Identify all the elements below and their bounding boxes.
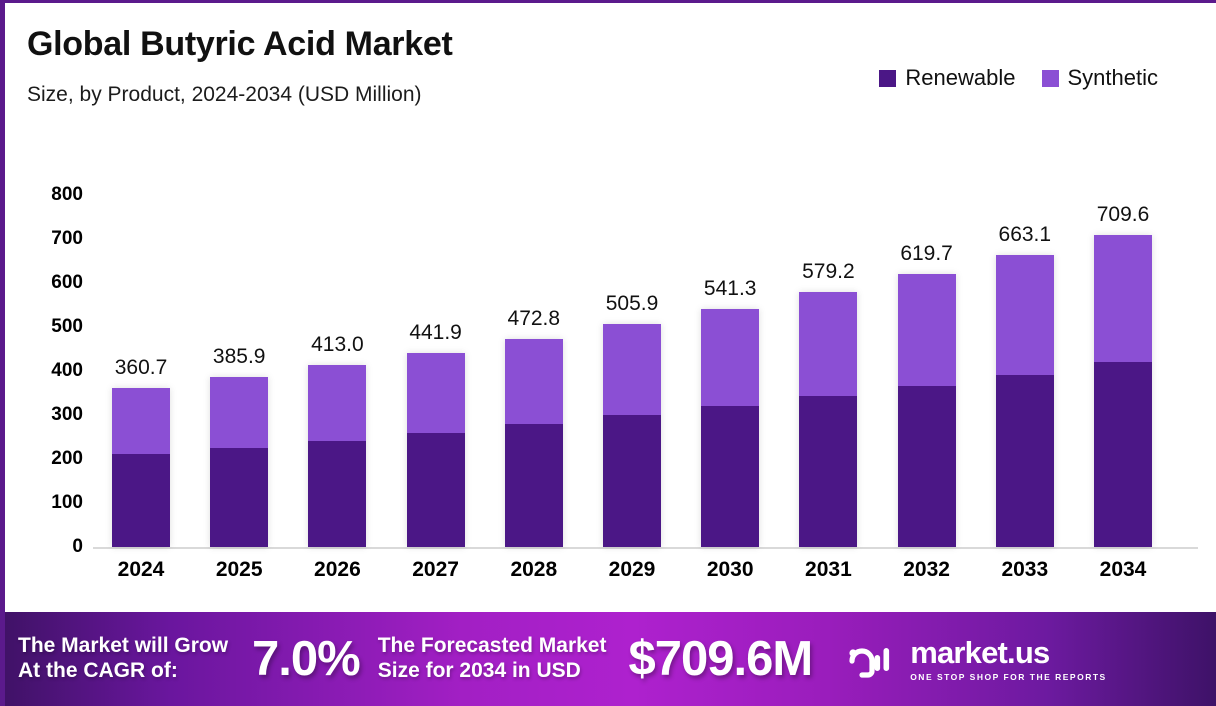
legend-label: Synthetic bbox=[1068, 65, 1159, 91]
bar-segment-synthetic[interactable] bbox=[112, 388, 170, 454]
bar-segment-renewable[interactable] bbox=[112, 454, 170, 547]
bar-segment-renewable[interactable] bbox=[603, 415, 661, 547]
bar-group-2033[interactable]: 663.1 bbox=[996, 153, 1054, 547]
bar-segment-synthetic[interactable] bbox=[898, 274, 956, 385]
square-swatch-icon bbox=[879, 70, 896, 87]
x-axis-line bbox=[93, 547, 1198, 549]
x-axis-label-2030: 2030 bbox=[701, 558, 759, 582]
stacked-bar[interactable] bbox=[308, 365, 366, 547]
x-axis-label-2025: 2025 bbox=[210, 558, 268, 582]
bar-group-2032[interactable]: 619.7 bbox=[898, 153, 956, 547]
bar-segment-renewable[interactable] bbox=[701, 406, 759, 547]
x-axis-label-2032: 2032 bbox=[898, 558, 956, 582]
x-axis-label-2033: 2033 bbox=[996, 558, 1054, 582]
bar-group-2031[interactable]: 579.2 bbox=[799, 153, 857, 547]
bar-segment-renewable[interactable] bbox=[407, 433, 465, 547]
bar-segment-synthetic[interactable] bbox=[603, 324, 661, 415]
bar-group-2034[interactable]: 709.6 bbox=[1094, 153, 1152, 547]
y-axis-tick: 800 bbox=[51, 184, 83, 206]
bar-group-2027[interactable]: 441.9 bbox=[407, 153, 465, 547]
legend-item-renewable[interactable]: Renewable bbox=[879, 65, 1015, 91]
stacked-bar[interactable] bbox=[210, 377, 268, 547]
bar-total-label: 360.7 bbox=[115, 356, 168, 380]
bar-segment-synthetic[interactable] bbox=[799, 292, 857, 396]
square-swatch-icon bbox=[1042, 70, 1059, 87]
cagr-value: 7.0% bbox=[252, 631, 360, 687]
x-axis-label-2028: 2028 bbox=[505, 558, 563, 582]
bar-segment-renewable[interactable] bbox=[308, 441, 366, 547]
bar-segment-renewable[interactable] bbox=[996, 375, 1054, 547]
y-axis-tick: 0 bbox=[72, 536, 83, 558]
bar-total-label: 541.3 bbox=[704, 277, 757, 301]
stacked-bar[interactable] bbox=[1094, 235, 1152, 547]
bar-segment-synthetic[interactable] bbox=[701, 309, 759, 406]
cagr-label: The Market will Grow At the CAGR of: bbox=[18, 634, 228, 684]
bar-segment-renewable[interactable] bbox=[898, 386, 956, 547]
y-axis-tick: 200 bbox=[51, 448, 83, 470]
bar-series-container: 360.7385.9413.0441.9472.8505.9541.3579.2… bbox=[100, 153, 1195, 547]
y-axis-tick: 100 bbox=[51, 492, 83, 514]
bar-total-label: 472.8 bbox=[508, 307, 561, 331]
x-axis-label-2031: 2031 bbox=[799, 558, 857, 582]
cagr-label-line1: The Market will Grow bbox=[18, 634, 228, 659]
stacked-bar[interactable] bbox=[603, 324, 661, 547]
x-axis-label-2027: 2027 bbox=[407, 558, 465, 582]
x-axis-label-2029: 2029 bbox=[603, 558, 661, 582]
bar-segment-renewable[interactable] bbox=[1094, 362, 1152, 547]
stacked-bar[interactable] bbox=[996, 255, 1054, 547]
bar-total-label: 413.0 bbox=[311, 333, 364, 357]
x-axis-label-2024: 2024 bbox=[112, 558, 170, 582]
bar-segment-synthetic[interactable] bbox=[505, 339, 563, 424]
forecast-label: The Forecasted Market Size for 2034 in U… bbox=[378, 634, 607, 684]
bar-total-label: 619.7 bbox=[900, 242, 953, 266]
bar-total-label: 663.1 bbox=[999, 223, 1052, 247]
y-axis-tick: 400 bbox=[51, 360, 83, 382]
bar-segment-synthetic[interactable] bbox=[407, 353, 465, 433]
chart-plot-area: 0100200300400500600700800 360.7385.9413.… bbox=[5, 153, 1216, 608]
x-axis-label-2026: 2026 bbox=[308, 558, 366, 582]
bar-total-label: 709.6 bbox=[1097, 203, 1150, 227]
bar-total-label: 385.9 bbox=[213, 345, 266, 369]
bar-segment-synthetic[interactable] bbox=[210, 377, 268, 447]
page-subtitle: Size, by Product, 2024-2034 (USD Million… bbox=[27, 83, 422, 107]
stacked-bar[interactable] bbox=[701, 309, 759, 547]
stacked-bar[interactable] bbox=[505, 339, 563, 547]
x-axis-labels: 2024202520262027202820292030203120322033… bbox=[100, 558, 1195, 598]
brand-text: market.us ONE STOP SHOP FOR THE REPORTS bbox=[910, 637, 1107, 682]
bar-group-2030[interactable]: 541.3 bbox=[701, 153, 759, 547]
bar-segment-synthetic[interactable] bbox=[308, 365, 366, 440]
legend-item-synthetic[interactable]: Synthetic bbox=[1042, 65, 1159, 91]
y-axis-tick: 500 bbox=[51, 316, 83, 338]
cagr-label-line2: At the CAGR of: bbox=[18, 659, 228, 684]
y-axis-tick: 700 bbox=[51, 228, 83, 250]
stacked-bar[interactable] bbox=[407, 353, 465, 547]
brand-logo[interactable]: market.us ONE STOP SHOP FOR THE REPORTS bbox=[846, 637, 1107, 682]
forecast-value: $709.6M bbox=[628, 631, 812, 687]
x-axis-label-2034: 2034 bbox=[1094, 558, 1152, 582]
forecast-label-line2: Size for 2034 in USD bbox=[378, 659, 607, 684]
y-axis-tick: 600 bbox=[51, 272, 83, 294]
bar-total-label: 505.9 bbox=[606, 292, 659, 316]
y-axis: 0100200300400500600700800 bbox=[5, 153, 93, 553]
bar-group-2025[interactable]: 385.9 bbox=[210, 153, 268, 547]
stacked-bar[interactable] bbox=[112, 388, 170, 547]
bar-group-2024[interactable]: 360.7 bbox=[112, 153, 170, 547]
bar-total-label: 441.9 bbox=[409, 321, 462, 345]
legend-label: Renewable bbox=[905, 65, 1015, 91]
page-title: Global Butyric Acid Market bbox=[27, 25, 453, 64]
bar-total-label: 579.2 bbox=[802, 260, 855, 284]
brand-tagline: ONE STOP SHOP FOR THE REPORTS bbox=[910, 672, 1107, 682]
bar-group-2028[interactable]: 472.8 bbox=[505, 153, 563, 547]
infographic-container: Global Butyric Acid Market Size, by Prod… bbox=[0, 0, 1216, 706]
y-axis-tick: 300 bbox=[51, 404, 83, 426]
stacked-bar[interactable] bbox=[898, 274, 956, 547]
bar-segment-renewable[interactable] bbox=[799, 396, 857, 547]
bar-segment-synthetic[interactable] bbox=[1094, 235, 1152, 362]
footer-banner: The Market will Grow At the CAGR of: 7.0… bbox=[0, 612, 1216, 706]
market-us-logo-icon bbox=[846, 639, 898, 679]
bar-segment-renewable[interactable] bbox=[505, 424, 563, 547]
bar-group-2026[interactable]: 413.0 bbox=[308, 153, 366, 547]
bar-segment-renewable[interactable] bbox=[210, 448, 268, 547]
forecast-label-line1: The Forecasted Market bbox=[378, 634, 607, 659]
stacked-bar[interactable] bbox=[799, 292, 857, 547]
brand-name: market.us bbox=[910, 637, 1107, 668]
bar-group-2029[interactable]: 505.9 bbox=[603, 153, 661, 547]
bar-segment-synthetic[interactable] bbox=[996, 255, 1054, 374]
chart-legend: RenewableSynthetic bbox=[879, 65, 1158, 91]
